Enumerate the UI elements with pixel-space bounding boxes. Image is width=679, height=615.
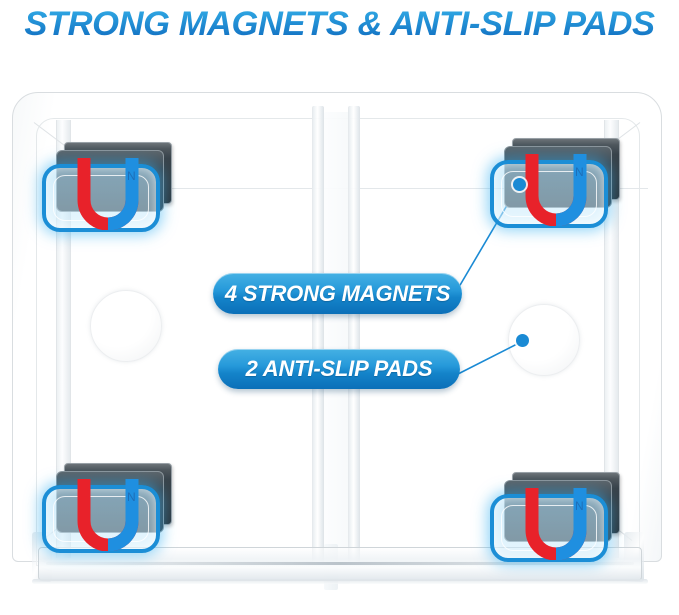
callout-magnets-label: 4 STRONG MAGNETS: [225, 281, 450, 307]
center-divider-bar-left: [312, 106, 324, 562]
callout-magnets: 4 STRONG MAGNETS: [213, 273, 462, 314]
product-feature-image: STRONG MAGNETS & ANTI-SLIP PADS: [0, 0, 679, 615]
magnet-emblem-bottom-left: N: [42, 463, 178, 555]
pole-label-n: N: [127, 490, 136, 504]
callout-pads-label: 2 ANTI-SLIP PADS: [246, 356, 433, 382]
magnet-emblem-top-left: N: [42, 142, 178, 234]
page-title: STRONG MAGNETS & ANTI-SLIP PADS: [0, 2, 679, 48]
horseshoe-magnet-icon: N: [70, 477, 146, 551]
anti-slip-pad-left: [90, 290, 162, 362]
center-divider-panel: [324, 112, 350, 584]
pad-callout-anchor-dot: [516, 334, 529, 347]
pole-label-n: N: [127, 169, 136, 183]
callout-pads: 2 ANTI-SLIP PADS: [218, 349, 460, 389]
magnet-emblem-top-right: N: [490, 138, 626, 230]
magnet-callout-anchor-dot: [513, 178, 526, 191]
horseshoe-magnet-icon: N: [518, 486, 594, 560]
base-foot: [32, 579, 648, 584]
pole-label-n: N: [575, 499, 584, 513]
magnet-emblem-bottom-right: N: [490, 472, 626, 564]
horseshoe-magnet-icon: N: [70, 156, 146, 230]
pole-label-n: N: [575, 165, 584, 179]
horseshoe-magnet-icon: N: [518, 152, 594, 226]
center-divider-bar-right: [348, 106, 360, 562]
